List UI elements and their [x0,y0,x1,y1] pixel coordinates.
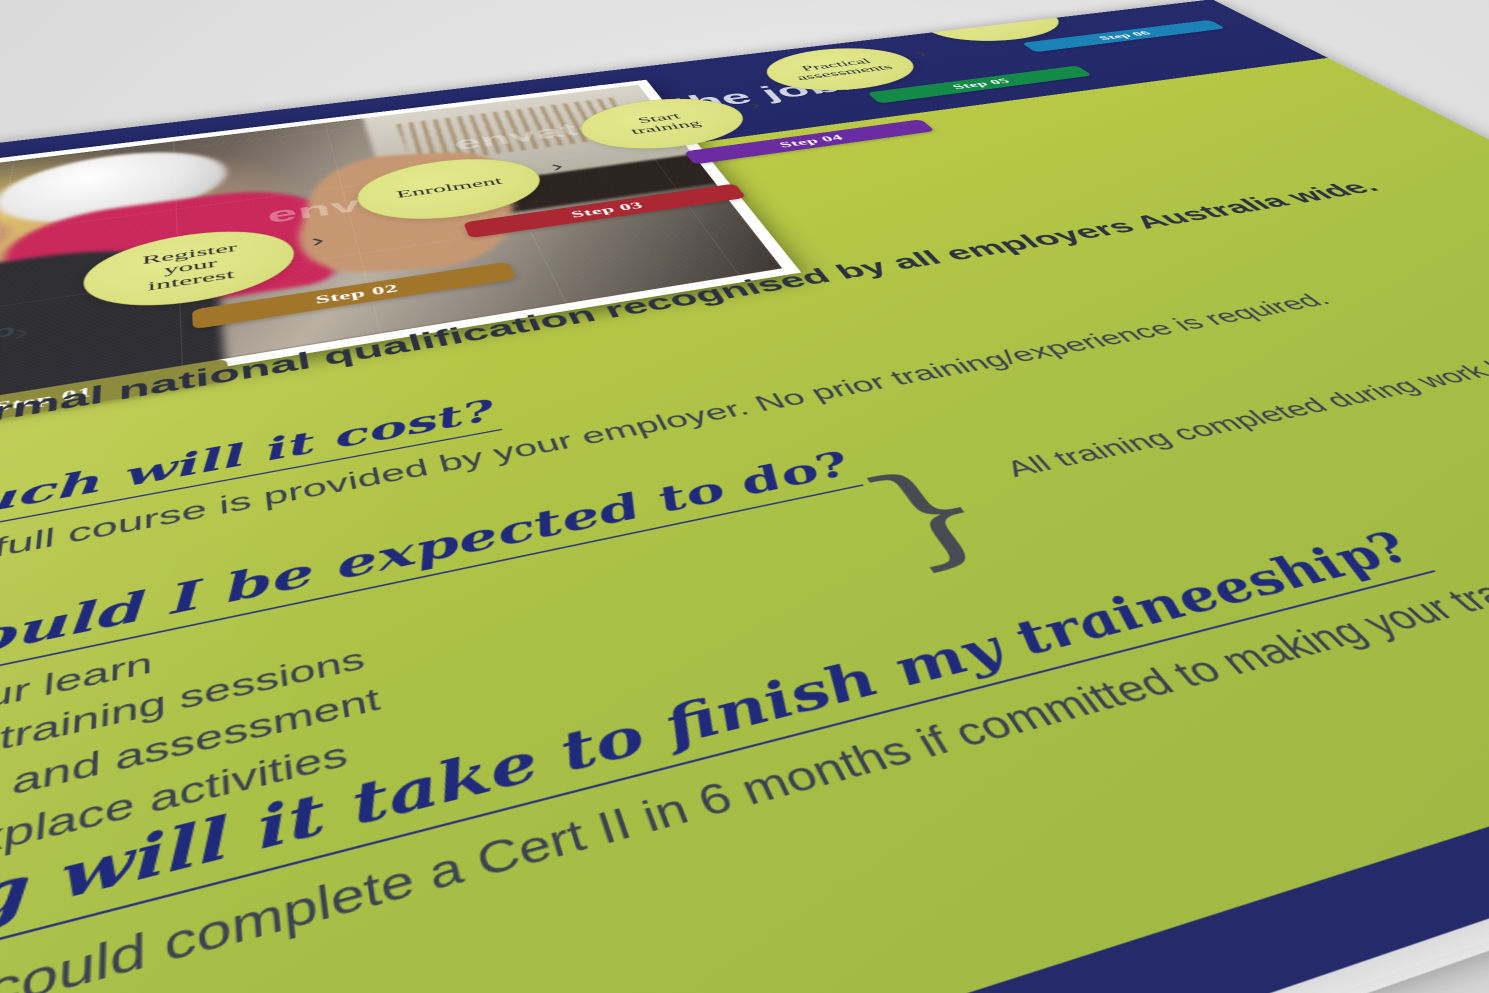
step-bar-label: Step 02 [314,282,400,307]
qa-question: How much will it cost? [0,393,502,578]
list-item: ✓Attend on site training sessions [0,351,1489,855]
curly-brace-icon: } [842,454,1021,578]
flow-node-label: Graduate [946,15,1037,31]
flow-chevron-icon: › [309,231,326,251]
step-bar-1: Step 01 [0,358,229,444]
brochure-page: Get ahead. Learn on the job. [0,0,1489,993]
qa-question: How long will it take to finish my train… [0,524,1436,993]
flow-node-label: Registeryourinterest [126,239,257,297]
qa-block-duration: How long will it take to finish my train… [0,421,1489,993]
qa-answer: Fast track, you could complete a Cert II… [0,469,1489,993]
flow-node-label: Practicalassessments [775,54,906,83]
list-item: ✓Earn while your learn [0,329,1489,802]
qa-aside-note: All training completed during work hours… [998,341,1489,484]
list-item: ✓Online training and assessment [0,374,1489,913]
step-bar-label: Step 03 [569,200,646,220]
navy-footer-band [0,561,1489,993]
flow-chevron-icon: › [12,320,31,345]
step-bar-label: Step 01 [0,384,93,416]
paper-stack: Get ahead. Learn on the job. [0,0,1489,993]
flow-node-label: Enrolment [381,174,517,203]
list-item: ✓Complete workplace activities [0,398,1489,975]
qa-question: What would I be expected to do? [0,445,864,743]
mockup-scene: Get ahead. Learn on the job. [0,0,1489,993]
qa-block-expectations: What would I be expected to do? ✓Earn wh… [0,295,1489,975]
flow-node-label: Starttraining [610,108,715,138]
expectation-bullets: ✓Earn while your learn ✓Attend on site t… [0,329,1489,975]
